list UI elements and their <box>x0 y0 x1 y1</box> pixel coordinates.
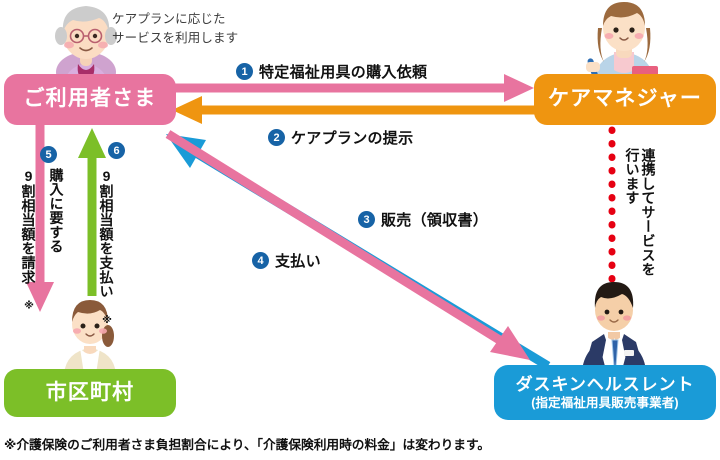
step-label-3: 3 販売（領収書） <box>358 209 488 230</box>
entity-box-user[interactable]: ご利用者さま <box>4 74 176 125</box>
entity-box-municipality[interactable]: 市区町村 <box>4 369 176 417</box>
entity-label-municipality: 市区町村 <box>46 381 135 405</box>
step-label-2: 2 ケアプランの提示 <box>268 127 413 148</box>
entity-box-care-manager[interactable]: ケアマネジャー <box>534 74 716 125</box>
step-text-1: 特定福祉用具の購入依頼 <box>259 61 427 82</box>
entity-box-duskin[interactable]: ダスキンヘルスレント (指定福祉用具販売事業者) <box>494 365 716 420</box>
step-badge-wrap-6: 6 <box>108 142 125 159</box>
step-badge-5: 5 <box>40 146 57 163</box>
step-label-4: 4 支払い <box>252 250 321 271</box>
arrow-step-3 <box>166 134 548 366</box>
step-label-1: 1 特定福祉用具の購入依頼 <box>236 61 427 82</box>
step-text-6: 9割相当額を支払い ※ <box>98 168 115 326</box>
step-badge-2: 2 <box>268 129 285 146</box>
link-label-line2: 行います <box>625 148 641 205</box>
diagram-canvas: ご利用者さま ケアマネジャー 市区町村 ダスキンヘルスレント (指定福祉用具販売… <box>0 0 720 460</box>
link-label-cooperation: 連携してサービスを <box>640 148 657 277</box>
caption-user-service: ケアプランに応じた サービスを利用します <box>112 10 238 48</box>
step-text-2: ケアプランの提示 <box>291 127 413 148</box>
footnote-text: ※介護保険のご利用者さま負担割合により、「介護保険利用時の料金」は変わります。 <box>4 434 490 453</box>
step-text-6-note: ※ <box>102 315 113 326</box>
step-badge-1: 1 <box>236 63 253 80</box>
step-text-5: 9割相当額を請求 ※ <box>20 168 37 312</box>
entity-label-duskin: ダスキンヘルスレント <box>516 375 695 395</box>
step-text-5-line1: 購入に要する <box>48 168 65 254</box>
step-text-5-line2: 9割相当額を請求 <box>21 168 37 284</box>
duskin-staff-illustration <box>578 278 650 370</box>
arrow-step-2 <box>172 96 546 124</box>
step-badge-wrap-5: 5 <box>40 146 57 163</box>
step-badge-3: 3 <box>358 211 375 228</box>
arrow-step-4 <box>168 134 530 360</box>
step-text-5-line1-inner: 購入に要する <box>49 168 65 254</box>
step-badge-4: 4 <box>252 252 269 269</box>
step-text-4: 支払い <box>275 250 321 271</box>
link-label-line1: 連携してサービスを <box>641 148 657 277</box>
entity-label-user: ご利用者さま <box>24 87 157 111</box>
step-text-3: 販売（領収書） <box>381 209 488 230</box>
step-text-5-note: ※ <box>24 301 35 312</box>
entity-sublabel-duskin: (指定福祉用具販売事業者) <box>531 396 678 410</box>
care-manager-illustration <box>582 0 666 82</box>
step-badge-6: 6 <box>108 142 125 159</box>
entity-label-care-manager: ケアマネジャー <box>548 87 702 111</box>
link-label-line2-wrap: 行います <box>624 148 641 205</box>
step-text-6-line1: 9割相当額を支払い <box>99 168 115 299</box>
